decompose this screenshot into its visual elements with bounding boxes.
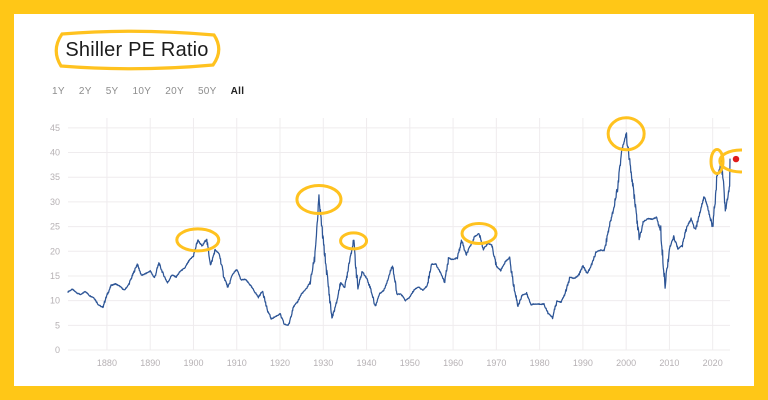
range-button-50y[interactable]: 50Y: [198, 86, 217, 97]
range-button-all[interactable]: All: [231, 86, 245, 97]
last-point-callout: 38.68: [733, 155, 742, 166]
range-button-2y[interactable]: 2Y: [79, 86, 92, 97]
y-tick-label: 0: [55, 345, 60, 355]
x-axis-ticks: 1880189019001910192019301940195019601970…: [97, 358, 723, 368]
x-tick-label: 2010: [659, 358, 679, 368]
range-selector[interactable]: 1Y 2Y 5Y 10Y 20Y 50Y All: [52, 86, 244, 97]
y-tick-label: 30: [50, 197, 60, 207]
x-tick-label: 1990: [573, 358, 593, 368]
y-tick-label: 15: [50, 271, 60, 281]
range-button-10y[interactable]: 10Y: [133, 86, 152, 97]
x-tick-label: 1960: [443, 358, 463, 368]
x-tick-label: 1910: [227, 358, 247, 368]
y-tick-label: 40: [50, 148, 60, 158]
x-tick-label: 1920: [270, 358, 290, 368]
x-tick-label: 1930: [313, 358, 333, 368]
x-tick-label: 1950: [400, 358, 420, 368]
page-title-container: Shiller PE Ratio: [48, 28, 226, 72]
x-tick-label: 1890: [140, 358, 160, 368]
y-axis-ticks: 051015202530354045: [50, 123, 60, 355]
range-button-20y[interactable]: 20Y: [165, 86, 184, 97]
range-button-5y[interactable]: 5Y: [106, 86, 119, 97]
range-button-1y[interactable]: 1Y: [52, 86, 65, 97]
page-title: Shiller PE Ratio: [48, 28, 226, 72]
y-tick-label: 10: [50, 296, 60, 306]
x-tick-label: 2020: [703, 358, 723, 368]
chart-svg: 051015202530354045 188018901900191019201…: [28, 110, 742, 380]
annotation-ellipses: [177, 118, 742, 251]
grid-lines: [68, 118, 730, 350]
y-tick-label: 25: [50, 222, 60, 232]
y-tick-label: 5: [55, 320, 60, 330]
last-point-marker: [733, 156, 739, 162]
shiller-pe-line-chart[interactable]: 051015202530354045 188018901900191019201…: [28, 110, 742, 380]
x-tick-label: 1980: [530, 358, 550, 368]
x-tick-label: 1970: [486, 358, 506, 368]
series-line: [68, 133, 730, 326]
y-tick-label: 35: [50, 172, 60, 182]
x-tick-label: 2000: [616, 358, 636, 368]
chart-card: Shiller PE Ratio 1Y 2Y 5Y 10Y 20Y 50Y Al…: [14, 14, 754, 386]
y-tick-label: 45: [50, 123, 60, 133]
y-tick-label: 20: [50, 246, 60, 256]
x-tick-label: 1940: [357, 358, 377, 368]
x-tick-label: 1880: [97, 358, 117, 368]
x-tick-label: 1900: [183, 358, 203, 368]
series-path: [68, 133, 730, 326]
